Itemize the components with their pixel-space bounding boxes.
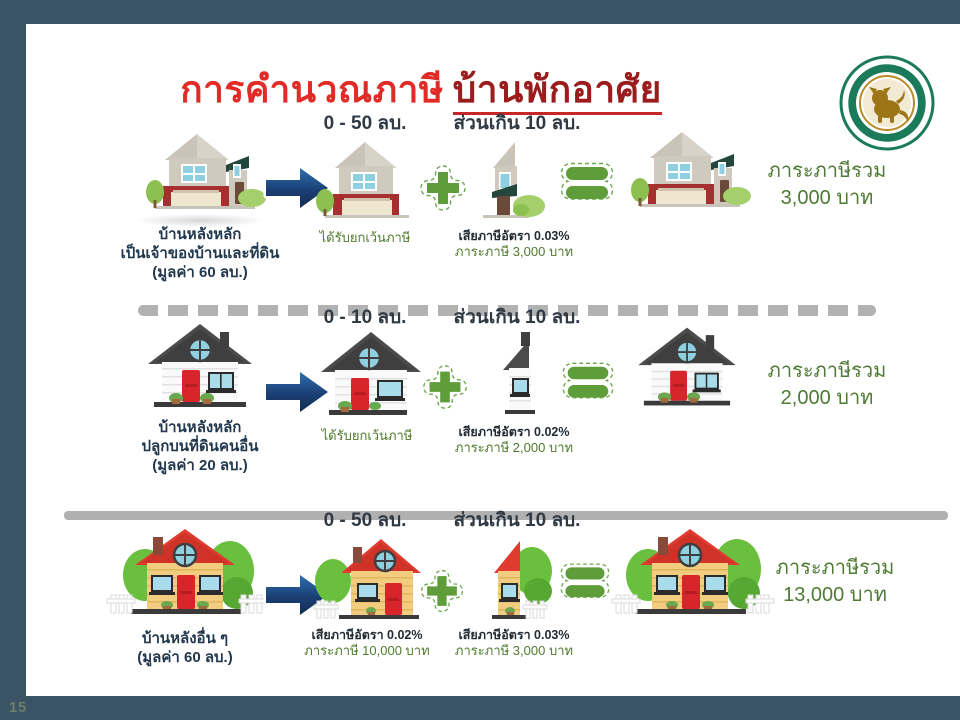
row3-total-cell: ภาระภาษีรวม 13,000 บาท [730, 555, 940, 609]
tax-row-other-homes: 0 - 50 ลบ. ส่วนเกิน 10 ลบ. [0, 503, 960, 683]
row3-bracket1-house-icon [302, 527, 432, 627]
row2-bracket2-rate: เสียภาษีอัตรา 0.02% [444, 424, 584, 440]
row3-total-value: 13,000 บาท [730, 582, 940, 609]
row2-bracket1-cell: ได้รับยกเว้นภาษี [312, 322, 422, 445]
row1-source-line1: บ้านหลังหลัก [110, 225, 290, 244]
row3-bracket1-amount: ภาระภาษี 10,000 บาท [302, 643, 432, 660]
equals-sign-icon [556, 158, 618, 221]
row3-source-house-icon [90, 519, 280, 629]
tax-row-primary-home-on-others-land: 0 - 10 ลบ. ส่วนเกิน 10 ลบ. [0, 300, 960, 480]
row1-bracket2-rate: เสียภาษีอัตรา 0.03% [444, 228, 584, 244]
equals-sign-icon [558, 358, 618, 419]
page-number: 15 [9, 699, 27, 716]
row2-total-value: 2,000 บาท [722, 385, 932, 412]
row2-total-label: ภาระภาษีรวม [722, 358, 932, 385]
row1-total-label: ภาระภาษีรวม [722, 158, 932, 185]
row3-bracket1-rate: เสียภาษีอัตรา 0.02% [302, 627, 432, 643]
row3-source-line2: (มูลค่า 60 ลบ.) [90, 648, 280, 667]
row1-total-value: 3,000 บาท [722, 185, 932, 212]
slide-canvas: การคำนวณภาษีบ้านพักอาศัย [0, 0, 960, 720]
row1-bracket2-amount: ภาระภาษี 3,000 บาท [444, 244, 584, 261]
row1-bracket1-note: ได้รับยกเว้นภาษี [310, 230, 420, 247]
row3-total-label: ภาระภาษีรวม [730, 555, 940, 582]
row2-bracket2-amount: ภาระภาษี 2,000 บาท [444, 440, 584, 457]
row3-bracket2-amount: ภาระภาษี 3,000 บาท [444, 643, 584, 660]
row2-total-cell: ภาระภาษีรวม 2,000 บาท [722, 358, 932, 412]
row2-bracket1-note: ได้รับยกเว้นภาษี [312, 428, 422, 445]
row2-source-line2: ปลูกบนที่ดินคนอื่น [110, 437, 290, 456]
row1-source-line2: เป็นเจ้าของบ้านและที่ดิน [110, 244, 290, 263]
row1-source-line3: (มูลค่า 60 ลบ.) [110, 263, 290, 282]
row3-bracket1-cell: เสียภาษีอัตรา 0.02% ภาระภาษี 10,000 บาท [302, 527, 432, 660]
row1-total-cell: ภาระภาษีรวม 3,000 บาท [722, 158, 932, 212]
row1-bracket1-house-icon [310, 128, 420, 228]
row2-source-line3: (มูลค่า 20 ลบ.) [110, 456, 290, 475]
tax-row-primary-home-owned: 0 - 50 ลบ. ส่วนเกิน 10 ลบ. [0, 100, 960, 280]
row3-source-cell: บ้านหลังอื่น ๆ (มูลค่า 60 ลบ.) [90, 519, 280, 667]
row3-bracket2-rate: เสียภาษีอัตรา 0.03% [444, 627, 584, 643]
row3-source-line1: บ้านหลังอื่น ๆ [90, 629, 280, 648]
row1-bracket1-cell: ได้รับยกเว้นภาษี [310, 128, 420, 247]
row2-bracket1-house-icon [312, 322, 422, 424]
